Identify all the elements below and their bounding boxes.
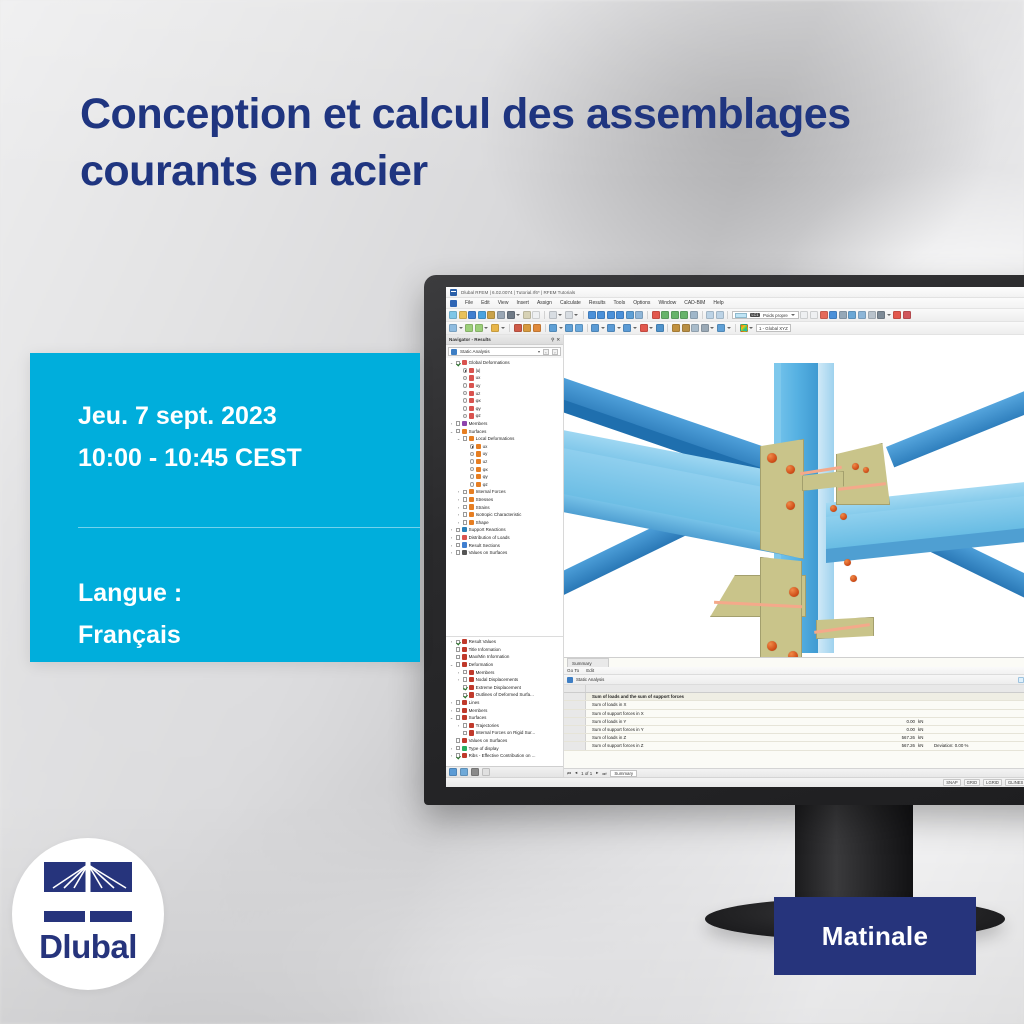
rfem-app-icon [450, 289, 457, 296]
calculate-icon[interactable] [661, 311, 669, 319]
tree-item-label: uz [483, 459, 488, 464]
tree-expand-icon[interactable]: › [449, 708, 454, 713]
tree-item-icon [469, 723, 474, 728]
bolt [767, 641, 777, 651]
tree-collapse-icon[interactable]: ⌄ [449, 715, 454, 720]
table-group-row: Sum of loads and the sum of support forc… [564, 693, 1024, 701]
nav-next-button[interactable]: › [552, 349, 558, 355]
application-menu-icon[interactable] [450, 300, 457, 307]
row-unit-cell: kN [918, 727, 934, 732]
tree-checkbox[interactable] [456, 550, 461, 555]
view-iso-icon[interactable] [616, 311, 624, 319]
tree-radio[interactable] [463, 383, 468, 388]
tree-item[interactable]: ›Isotropic Characteristic [447, 511, 563, 519]
section-icon[interactable] [682, 324, 690, 332]
tree-item[interactable]: uz [447, 389, 563, 397]
tree-item-label: Max/Min Information [469, 654, 510, 659]
load-surface-caret-icon[interactable] [633, 327, 637, 329]
tree-item-icon [462, 542, 467, 547]
tree-item[interactable]: ›Type of display [447, 744, 563, 752]
tree-expand-icon[interactable]: › [449, 639, 454, 644]
coordinate-system-value: 1 - Global XYZ [759, 326, 788, 331]
redo-caret-icon[interactable] [574, 314, 578, 316]
tree-radio[interactable] [470, 452, 475, 457]
toolbar-primary[interactable]: LC1 Poids propre [446, 309, 1024, 322]
tree-item[interactable]: ›Distribution of Loads [447, 534, 563, 542]
last-page-icon[interactable]: ⏭ [602, 771, 606, 776]
printout-report-icon[interactable] [523, 311, 531, 319]
next-case-icon[interactable] [810, 311, 818, 319]
row-index-cell [564, 734, 586, 741]
tree-expand-icon[interactable]: › [449, 535, 454, 540]
tree-checkbox[interactable] [456, 715, 461, 720]
results-menu-edit[interactable]: Edit [586, 668, 594, 673]
tree-item[interactable]: φx [447, 465, 563, 473]
print-options-caret-icon[interactable] [516, 314, 520, 316]
tree-item[interactable]: ›Lines [447, 699, 563, 707]
tree-item[interactable]: ⌄Global Deformations [447, 359, 563, 367]
tree-expand-icon[interactable]: › [456, 670, 461, 675]
bolt [852, 463, 859, 470]
tree-expand-icon[interactable]: › [456, 505, 461, 510]
tree-item[interactable]: ›Members [447, 420, 563, 428]
tree-expand-icon[interactable]: › [449, 753, 454, 758]
event-language-block: Langue : Français [30, 528, 420, 656]
save-as-icon[interactable] [478, 311, 486, 319]
menu-item-tools[interactable]: Tools [614, 300, 626, 306]
loads-display-icon[interactable] [829, 311, 837, 319]
view-top-icon[interactable] [597, 311, 605, 319]
menu-item-file[interactable]: File [465, 300, 473, 306]
tree-radio[interactable] [463, 391, 468, 396]
tree-item-label: uz [476, 391, 481, 396]
tree-item-label: Type of display [469, 746, 499, 751]
tree-item[interactable]: ›Members [447, 668, 563, 676]
color-legend-icon[interactable] [740, 324, 748, 332]
tree-item[interactable]: uy [447, 382, 563, 390]
tree-checkbox[interactable] [463, 723, 468, 728]
row-description-cell: Sum of support forces in Z [586, 743, 876, 748]
load-line-caret-icon[interactable] [617, 327, 621, 329]
tree-radio[interactable] [470, 459, 475, 464]
color-legend-caret-icon[interactable] [749, 327, 753, 329]
tree-item[interactable]: ›Result Sections [447, 541, 563, 549]
view-side-icon[interactable] [607, 311, 615, 319]
event-date: Jeu. 7 sept. 2023 [78, 395, 420, 437]
import-icon[interactable] [487, 311, 495, 319]
tree-expand-icon[interactable]: › [456, 520, 461, 525]
prev-page-icon[interactable]: ◂ [575, 770, 577, 776]
tree-item[interactable]: ⌄Surfaces [447, 427, 563, 435]
chevron-down-icon[interactable]: ▾ [538, 349, 540, 354]
tree-item-icon [462, 550, 467, 555]
tree-expand-icon[interactable]: › [449, 700, 454, 705]
tree-collapse-icon[interactable]: ⌄ [449, 662, 454, 667]
tree-radio[interactable] [470, 482, 475, 487]
tree-checkbox[interactable] [463, 512, 468, 517]
table-row[interactable]: Sum of support forces in X [564, 710, 1024, 718]
tree-item-icon [469, 692, 474, 697]
move-tool-icon[interactable] [549, 324, 557, 332]
tree-item[interactable]: Internal Forces on Rigid Sur... [447, 729, 563, 737]
menu-item-insert[interactable]: Insert [516, 300, 529, 306]
load-line-icon[interactable] [607, 324, 615, 332]
wireframe-icon[interactable] [635, 311, 643, 319]
tree-item[interactable]: Extreme Displacement [447, 684, 563, 692]
thickness-icon[interactable] [691, 324, 699, 332]
tree-item-icon [462, 535, 467, 540]
row-index-cell [564, 726, 586, 733]
refresh-icon[interactable] [680, 311, 688, 319]
page-indicator: 1 of 1 [581, 771, 592, 776]
tree-checkbox[interactable] [456, 535, 461, 540]
menu-item-calculate[interactable]: Calculate [560, 300, 581, 306]
dimension-icon[interactable] [903, 311, 911, 319]
tree-checkbox[interactable] [456, 655, 461, 660]
row-value-cell: 567.26 [876, 743, 918, 748]
app-titlebar: Dlubal RFEM | 6.02.0074 | Tutorial.rf6* … [446, 287, 1024, 298]
tree-expand-icon[interactable]: › [449, 746, 454, 751]
tree-expand-icon[interactable]: › [456, 497, 461, 502]
menu-item-options[interactable]: Options [633, 300, 650, 306]
tree-radio[interactable] [470, 444, 475, 449]
status-chip-grid[interactable]: GRID [964, 779, 980, 786]
nav-prev-button[interactable]: ‹ [543, 349, 549, 355]
table-row[interactable]: Sum of loads in Y0.00kN [564, 718, 1024, 726]
load-surface-icon[interactable] [623, 324, 631, 332]
tree-item-label: Nodal Displacements [476, 677, 519, 682]
node-tool-icon[interactable] [491, 324, 499, 332]
tree-checkbox[interactable] [456, 746, 461, 751]
line-snap-icon[interactable] [716, 311, 724, 319]
row-value-cell: 0.00 [876, 719, 918, 724]
app-title-text: Dlubal RFEM | 6.02.0074 | Tutorial.rf6* … [461, 290, 575, 295]
load-free-icon[interactable] [640, 324, 648, 332]
tree-item-icon [462, 753, 467, 758]
node-snap-icon[interactable] [706, 311, 714, 319]
mirror-tool-icon[interactable] [575, 324, 583, 332]
tree-collapse-icon[interactable]: ⌄ [456, 436, 461, 441]
tree-expand-icon[interactable]: › [449, 543, 454, 548]
tree-item[interactable]: Outlines of Deformed Surfa... [447, 691, 563, 699]
sections-icon[interactable] [858, 311, 866, 319]
menu-item-assign[interactable]: Assign [537, 300, 552, 306]
new-model-icon[interactable] [449, 311, 457, 319]
stiffness-caret-icon[interactable] [710, 327, 714, 329]
status-chip-glines[interactable]: GLINES [1005, 779, 1024, 786]
nodal-release-icon[interactable] [717, 324, 725, 332]
tree-checkbox[interactable] [463, 731, 468, 736]
clipping-icon[interactable] [877, 311, 885, 319]
summary-tab[interactable]: Summary [567, 658, 609, 667]
tree-checkbox[interactable] [463, 670, 468, 675]
row-description-cell: Sum of loads in Z [586, 735, 876, 740]
toolbar-secondary[interactable]: 1 - Global XYZ [446, 322, 1024, 335]
redo-icon[interactable] [565, 311, 573, 319]
save-icon[interactable] [468, 311, 476, 319]
results-zoom-in-icon[interactable] [1018, 677, 1024, 683]
bolt [830, 505, 837, 512]
tree-checkbox[interactable] [456, 640, 461, 645]
tree-expand-icon[interactable]: › [456, 723, 461, 728]
toolbar-separator [544, 311, 545, 319]
menu-item-view[interactable]: View [498, 300, 509, 306]
row-unit-cell: kN [918, 743, 934, 748]
rotate-tool-icon[interactable] [565, 324, 573, 332]
load-free-caret-icon[interactable] [649, 327, 653, 329]
tree-item-icon [462, 654, 467, 659]
tree-radio[interactable] [463, 368, 468, 373]
tree-item-label: Surfaces [469, 715, 487, 720]
toolbar-separator [583, 311, 584, 319]
bridge-icon [44, 862, 132, 908]
tree-item-label: Result Sections [469, 543, 500, 548]
open-folder-icon[interactable] [459, 311, 467, 319]
tree-checkbox[interactable] [456, 528, 461, 533]
tree-radio[interactable] [463, 398, 468, 403]
navigator-tab-display-icon[interactable] [460, 768, 468, 776]
node-caret-icon[interactable] [501, 327, 505, 329]
tree-radio[interactable] [463, 376, 468, 381]
status-bar[interactable]: SNAP GRID LGRID GLINES OSNAP [446, 777, 1024, 787]
select-objects-icon[interactable] [449, 324, 457, 332]
tree-item-label: φx [476, 398, 481, 403]
support-display-icon[interactable] [820, 311, 828, 319]
load-case-id: LC1 [750, 313, 760, 317]
tree-item[interactable]: uy [447, 450, 563, 458]
tree-item[interactable]: ›Internal Forces [447, 488, 563, 496]
check-model-icon[interactable] [671, 311, 679, 319]
copy-icon[interactable] [532, 311, 540, 319]
render-solid-icon[interactable] [626, 311, 634, 319]
tree-checkbox[interactable] [456, 753, 461, 758]
tree-item[interactable]: φy [447, 473, 563, 481]
tree-item[interactable]: ›Support Reactions [447, 526, 563, 534]
tree-checkbox[interactable] [463, 677, 468, 682]
prev-case-icon[interactable] [800, 311, 808, 319]
tree-collapse-icon[interactable]: ⌄ [449, 429, 454, 434]
tree-item[interactable]: φz [447, 412, 563, 420]
load-case-color-swatch [735, 313, 747, 318]
tree-checkbox[interactable] [463, 505, 468, 510]
first-page-icon[interactable]: ⏮ [567, 771, 571, 776]
draw-caret-icon[interactable] [484, 327, 488, 329]
tree-item-label: uy [483, 451, 488, 456]
tree-item[interactable]: ›Values on Surfaces [447, 549, 563, 557]
rfem-application-screen: Dlubal RFEM | 6.02.0074 | Tutorial.rf6* … [446, 287, 1024, 787]
bolt [850, 575, 857, 582]
brace-upper-right [886, 376, 1024, 468]
monitor-bezel: Dlubal RFEM | 6.02.0074 | Tutorial.rf6* … [424, 275, 1024, 805]
tree-item[interactable]: ›Nodal Displacements [447, 676, 563, 684]
results-menubar[interactable]: Go To Edit [564, 667, 1024, 675]
row-index-cell [564, 701, 586, 708]
tree-item[interactable]: φy [447, 405, 563, 413]
results-table-icon[interactable] [690, 311, 698, 319]
stiffness-icon[interactable] [701, 324, 709, 332]
tree-checkbox[interactable] [463, 520, 468, 525]
tree-item-label: |u| [476, 368, 481, 373]
navigator-tab-rendering-icon[interactable] [482, 768, 490, 776]
navigator-tab-strip[interactable] [446, 766, 563, 777]
bolt [840, 513, 847, 520]
tree-item[interactable]: ›Members [447, 706, 563, 714]
tree-item-label: Lines [469, 700, 480, 705]
results-tree-lower[interactable]: ›Result ValuesTitle InformationMax/Min I… [446, 636, 563, 766]
tree-radio[interactable] [470, 467, 475, 472]
row-index-cell [564, 718, 586, 725]
toolbar-separator [735, 324, 736, 332]
table-header-row [564, 685, 1024, 693]
tree-item[interactable]: Values on Surfaces [447, 737, 563, 745]
tree-item[interactable]: ⌄Deformation [447, 661, 563, 669]
row-description-cell: Sum of loads in X [586, 702, 876, 707]
view-front-icon[interactable] [588, 311, 596, 319]
mesh-display-icon[interactable] [839, 311, 847, 319]
results-tree-upper[interactable]: ⌄Global Deformations|u|uxuyuzφxφyφz›Memb… [446, 358, 563, 636]
imperfection-icon[interactable] [656, 324, 664, 332]
tree-item[interactable]: ux [447, 443, 563, 451]
table-row[interactable]: Sum of loads in X [564, 701, 1024, 709]
tree-item[interactable]: ›Trajectories [447, 722, 563, 730]
nodal-release-caret-icon[interactable] [727, 327, 731, 329]
table-row[interactable]: Sum of support forces in Z567.26kNDeviat… [564, 742, 1024, 750]
load-case-name: Poids propre [763, 313, 788, 318]
select-caret-icon[interactable] [459, 327, 463, 329]
tree-item[interactable]: ›Strains [447, 503, 563, 511]
draw-member-icon[interactable] [475, 324, 483, 332]
tree-item-icon [476, 474, 481, 479]
undo-caret-icon[interactable] [558, 314, 562, 316]
tree-item[interactable]: Max/Min Information [447, 653, 563, 661]
results-table[interactable]: Sum of loads and the sum of support forc… [564, 685, 1024, 768]
tree-item-label: Internal Forces on Rigid Sur... [476, 730, 536, 735]
load-point-icon[interactable] [591, 324, 599, 332]
bolt [789, 587, 799, 597]
app-menubar[interactable]: File Edit View Insert Assign Calculate R… [446, 298, 1024, 309]
tree-item[interactable]: uz [447, 458, 563, 466]
tree-checkbox[interactable] [456, 647, 461, 652]
close-icon[interactable]: ✕ [556, 337, 560, 343]
menu-item-window[interactable]: Window [658, 300, 676, 306]
tree-item[interactable]: φz [447, 481, 563, 489]
tree-expand-icon[interactable]: › [456, 677, 461, 682]
tree-item-icon [469, 383, 474, 388]
table-row[interactable]: Sum of support forces in Y0.00kN [564, 726, 1024, 734]
clipping-caret-icon[interactable] [887, 314, 891, 316]
hinge-tool-icon[interactable] [523, 324, 531, 332]
tree-checkbox[interactable] [463, 693, 468, 698]
navigator-title: Navigator - Results [449, 337, 491, 342]
tree-item-icon [469, 368, 474, 373]
tree-checkbox[interactable] [456, 429, 461, 434]
tree-checkbox[interactable] [456, 738, 461, 743]
tree-collapse-icon[interactable]: ⌄ [449, 360, 454, 365]
tree-item[interactable]: ux [447, 374, 563, 382]
menu-item-edit[interactable]: Edit [481, 300, 490, 306]
surface-tool-icon[interactable] [533, 324, 541, 332]
tree-item[interactable]: ⌄Surfaces [447, 714, 563, 722]
logo-wordmark: Dlubal [39, 928, 137, 966]
results-footer-tab[interactable]: Summary [610, 770, 637, 777]
tree-item[interactable]: ›Ribs - Effective Contribution on ... [447, 752, 563, 760]
support-tool-icon[interactable] [514, 324, 522, 332]
next-page-icon[interactable]: ▸ [596, 770, 598, 776]
status-chip-snap[interactable]: SNAP [943, 779, 960, 786]
deformation-icon[interactable] [848, 311, 856, 319]
move-caret-icon[interactable] [559, 327, 563, 329]
undo-icon[interactable] [549, 311, 557, 319]
tree-checkbox[interactable] [463, 685, 468, 690]
analysis-type-select[interactable]: Static Analysis ▾ ‹ › [448, 347, 561, 356]
results-pager[interactable]: ⏮ ◂ 1 of 1 ▸ ⏭ Summary [564, 768, 1024, 777]
tree-radio[interactable] [463, 406, 468, 411]
tree-expand-icon[interactable]: › [456, 489, 461, 494]
coordinate-system-selector[interactable]: 1 - Global XYZ [756, 324, 791, 332]
status-chip-lgrid[interactable]: LGRID [983, 779, 1002, 786]
table-row[interactable]: Sum of loads in Z567.26kN [564, 734, 1024, 742]
pin-icon[interactable]: ⚲ [551, 337, 554, 343]
menu-item-help[interactable]: Help [713, 300, 723, 306]
visibility-icon[interactable] [893, 311, 901, 319]
tree-item[interactable]: |u| [447, 367, 563, 375]
export-icon[interactable] [497, 311, 505, 319]
tree-checkbox[interactable] [456, 662, 461, 667]
material-icon[interactable] [672, 324, 680, 332]
navigator-tab-results-icon[interactable] [449, 768, 457, 776]
tree-item[interactable]: ›Stresses [447, 496, 563, 504]
load-case-caret-icon[interactable] [791, 314, 795, 316]
tree-item-label: Members [469, 421, 488, 426]
tree-expand-icon[interactable]: › [456, 512, 461, 517]
tree-checkbox[interactable] [456, 700, 461, 705]
tree-item[interactable]: φx [447, 397, 563, 405]
tree-item-label: Distribution of Loads [469, 535, 510, 540]
tree-item[interactable]: Title Information [447, 646, 563, 654]
tree-radio[interactable] [463, 414, 468, 419]
tree-item[interactable]: ⌄Local Deformations [447, 435, 563, 443]
tree-item-label: φx [483, 467, 488, 472]
tree-checkbox[interactable] [456, 361, 461, 366]
tree-item-icon [469, 436, 474, 441]
language-value: Français [78, 614, 420, 656]
tree-expand-icon[interactable]: › [449, 550, 454, 555]
print-icon[interactable] [507, 311, 515, 319]
load-point-caret-icon[interactable] [601, 327, 605, 329]
tree-checkbox[interactable] [456, 708, 461, 713]
tree-expand-icon[interactable]: › [449, 527, 454, 532]
tree-item-icon [462, 715, 467, 720]
cut-icon[interactable] [868, 311, 876, 319]
tree-expand-icon[interactable]: › [449, 421, 454, 426]
tree-checkbox[interactable] [463, 436, 468, 441]
tree-checkbox[interactable] [456, 421, 461, 426]
tree-item[interactable]: ›Shape [447, 518, 563, 526]
results-menu-goto[interactable]: Go To [567, 668, 579, 673]
tree-checkbox[interactable] [463, 497, 468, 502]
navigator-tab-views-icon[interactable] [471, 768, 479, 776]
tree-radio[interactable] [470, 474, 475, 479]
menu-item-cad-bim[interactable]: CAD-BIM [684, 300, 705, 306]
menu-item-results[interactable]: Results [589, 300, 606, 306]
tree-item-icon [469, 504, 474, 509]
load-case-selector[interactable]: LC1 Poids propre [732, 311, 799, 319]
tree-item[interactable]: ›Result Values [447, 638, 563, 646]
tree-checkbox[interactable] [463, 490, 468, 495]
draw-line-icon[interactable] [465, 324, 473, 332]
tree-checkbox[interactable] [456, 543, 461, 548]
load-wizard-icon[interactable] [652, 311, 660, 319]
